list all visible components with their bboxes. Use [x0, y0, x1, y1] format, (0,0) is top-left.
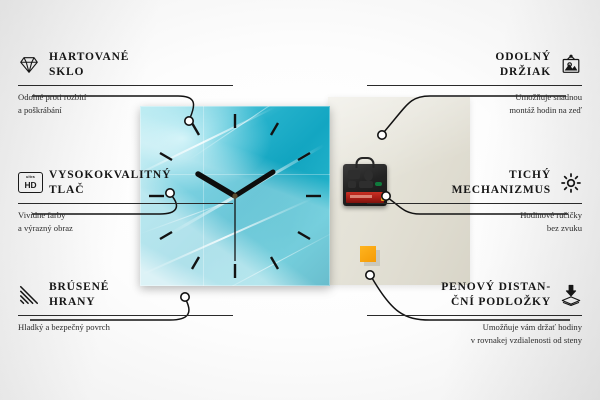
minute-hand: [235, 172, 273, 196]
feature-holder-head: ODOLNÝDRŽIAK: [367, 50, 582, 80]
feature-quiet-desc: Hodinové ručičkybez zvuku: [367, 209, 582, 233]
feature-edges-title: BRÚSENÉHRANY: [49, 280, 109, 310]
divider: [367, 203, 582, 204]
picture-frame-hanger-icon: [560, 54, 582, 76]
feature-holder-desc: Umožňuje snadnoumontáž hodin na zeď: [367, 91, 582, 115]
gear-icon: [560, 172, 582, 194]
feature-edges-head: BRÚSENÉHRANY: [18, 280, 233, 310]
feature-edges[interactable]: BRÚSENÉHRANY Hladký a bezpečný povrch: [18, 280, 233, 334]
feature-quiet[interactable]: TICHÝMECHANIZMUS Hodinové ručičkybez zvu…: [367, 168, 582, 234]
hand-hub: [232, 193, 237, 198]
feature-print-title: VYSOKOKVALITNÝTLAČ: [49, 168, 171, 198]
feature-print-head: ultra HD VYSOKOKVALITNÝTLAČ: [18, 168, 233, 198]
ultra-hd-icon: ultra HD: [18, 172, 40, 194]
feature-glass-head: HARTOVANÉSKLO: [18, 50, 233, 80]
arrow-onto-layers-icon: [560, 284, 582, 306]
foam-spacer-pad: [360, 246, 376, 262]
divider: [18, 203, 233, 204]
feature-edges-desc: Hladký a bezpečný povrch: [18, 321, 233, 333]
feature-holder-title: ODOLNÝDRŽIAK: [495, 50, 551, 80]
feature-foam-desc: Umožňuje vám držať hodinyv rovnakej vzdi…: [367, 321, 582, 345]
feature-foam-title: PENOVÝ DISTAN-ČNÍ PODLOŽKY: [441, 280, 551, 310]
feature-glass-title: HARTOVANÉSKLO: [49, 50, 129, 80]
feature-print[interactable]: ultra HD VYSOKOKVALITNÝTLAČ Vivídne farb…: [18, 168, 233, 234]
divider: [367, 85, 582, 86]
feature-quiet-head: TICHÝMECHANIZMUS: [367, 168, 582, 198]
divider: [18, 315, 233, 316]
feature-quiet-title: TICHÝMECHANIZMUS: [452, 168, 551, 198]
feature-foam-head: PENOVÝ DISTAN-ČNÍ PODLOŽKY: [367, 280, 582, 310]
hd-label: HD: [24, 181, 36, 189]
feature-glass[interactable]: HARTOVANÉSKLO Odolné proti rozbitía pošk…: [18, 50, 233, 116]
feature-print-desc: Vivídne farbya výrazný obraz: [18, 209, 233, 233]
movement-hanger: [356, 157, 375, 168]
ground-edges-icon: [18, 284, 40, 306]
diamond-icon: [18, 54, 40, 76]
feature-glass-desc: Odolné proti rozbitía poškrábání: [18, 91, 233, 115]
feature-holder[interactable]: ODOLNÝDRŽIAK Umožňuje snadnoumontáž hodi…: [367, 50, 582, 116]
infographic-canvas: HARTOVANÉSKLO Odolné proti rozbitía pošk…: [0, 0, 600, 400]
divider: [367, 315, 582, 316]
feature-foam[interactable]: PENOVÝ DISTAN-ČNÍ PODLOŽKY Umožňuje vám …: [367, 280, 582, 346]
divider: [18, 85, 233, 86]
